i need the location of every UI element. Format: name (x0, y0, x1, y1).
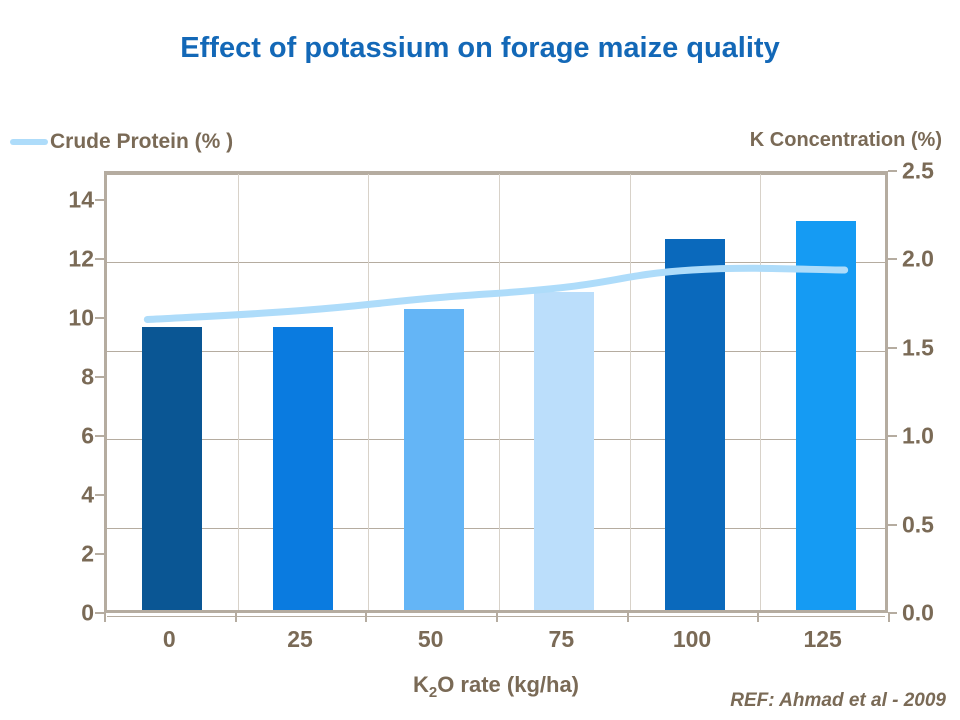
x-axis-tick-label-75: 75 (511, 626, 611, 653)
plot-area (104, 171, 888, 613)
y-axis-right-tick-label: 0.5 (902, 511, 960, 538)
y-axis-left-tick-label: 0 (42, 600, 94, 627)
y-axis-left-tick-mark (95, 376, 104, 378)
x-axis-tick-mark (496, 613, 498, 622)
y-axis-left-tick-mark (95, 317, 104, 319)
x-axis-tick-label-50: 50 (381, 626, 481, 653)
gridline-vertical (499, 174, 500, 610)
y-axis-right-tick-label: 2.0 (902, 246, 960, 273)
legend-item-crude-protein[interactable]: Crude Protein (% ) (10, 129, 233, 155)
gridline-horizontal (107, 351, 885, 352)
bar-125[interactable] (796, 221, 856, 610)
y-axis-right-tick-mark (888, 435, 897, 437)
x-axis-tick-mark (757, 613, 759, 622)
x-axis-tick-mark (104, 613, 106, 622)
gridline-vertical (368, 174, 369, 610)
y-axis-left-tick-label: 10 (42, 305, 94, 332)
x-axis-title-sub: 2 (429, 684, 437, 701)
y-axis-left-tick-mark (95, 435, 104, 437)
gridline-vertical (760, 174, 761, 610)
y-axis-left-tick-label: 6 (42, 423, 94, 450)
y-axis-right-tick-label: 0.0 (902, 600, 960, 627)
gridline-horizontal (107, 174, 885, 175)
bar-0[interactable] (142, 327, 202, 610)
y-axis-left-tick-mark (95, 494, 104, 496)
y-axis-right-tick-mark (888, 258, 897, 260)
x-axis-tick-label-0: 0 (119, 626, 219, 653)
x-axis-title-pre: K (413, 672, 429, 697)
y-axis-left-tick-label: 8 (42, 364, 94, 391)
gridline-vertical (238, 174, 239, 610)
y-axis-right-tick-label: 1.5 (902, 334, 960, 361)
y-axis-left-tick-label: 12 (42, 246, 94, 273)
y-axis-right-tick-label: 2.5 (902, 158, 960, 185)
x-axis-tick-mark (365, 613, 367, 622)
y-axis-right-tick-mark (888, 524, 897, 526)
legend-label-crude-protein: Crude Protein (% ) (50, 130, 233, 154)
bar-75[interactable] (534, 292, 594, 610)
y-axis-left-tick-mark (95, 258, 104, 260)
x-axis-tick-mark (627, 613, 629, 622)
y-axis-right-tick-label: 1.0 (902, 423, 960, 450)
x-axis-title-post: O rate (kg/ha) (437, 672, 579, 697)
legend-line-swatch-icon (10, 139, 48, 145)
chart-title: Effect of potassium on forage maize qual… (0, 32, 960, 65)
chart-container: Effect of potassium on forage maize qual… (0, 0, 960, 720)
gridline-horizontal (107, 262, 885, 263)
x-axis-tick-label-25: 25 (250, 626, 350, 653)
y-axis-left-tick-mark (95, 199, 104, 201)
y-axis-right-tick-mark (888, 347, 897, 349)
y-axis-left-tick-label: 14 (42, 187, 94, 214)
bar-25[interactable] (273, 327, 333, 610)
plot-inner (107, 174, 885, 610)
gridline-horizontal (107, 439, 885, 440)
gridline-horizontal (107, 528, 885, 529)
x-axis-tick-mark (235, 613, 237, 622)
y-axis-left-tick-mark (95, 553, 104, 555)
y-axis-left-tick-mark (95, 612, 104, 614)
x-axis-tick-mark (888, 613, 890, 622)
x-axis-tick-label-125: 125 (773, 626, 873, 653)
secondary-axis-title: K Concentration (%) (750, 129, 942, 152)
reference-note: REF: Ahmad et al - 2009 (730, 690, 946, 712)
y-axis-left-tick-label: 4 (42, 482, 94, 509)
gridline-vertical (630, 174, 631, 610)
bar-50[interactable] (404, 309, 464, 610)
y-axis-right-tick-mark (888, 170, 897, 172)
bar-100[interactable] (665, 239, 725, 610)
y-axis-left-tick-label: 2 (42, 541, 94, 568)
x-axis-tick-label-100: 100 (642, 626, 742, 653)
